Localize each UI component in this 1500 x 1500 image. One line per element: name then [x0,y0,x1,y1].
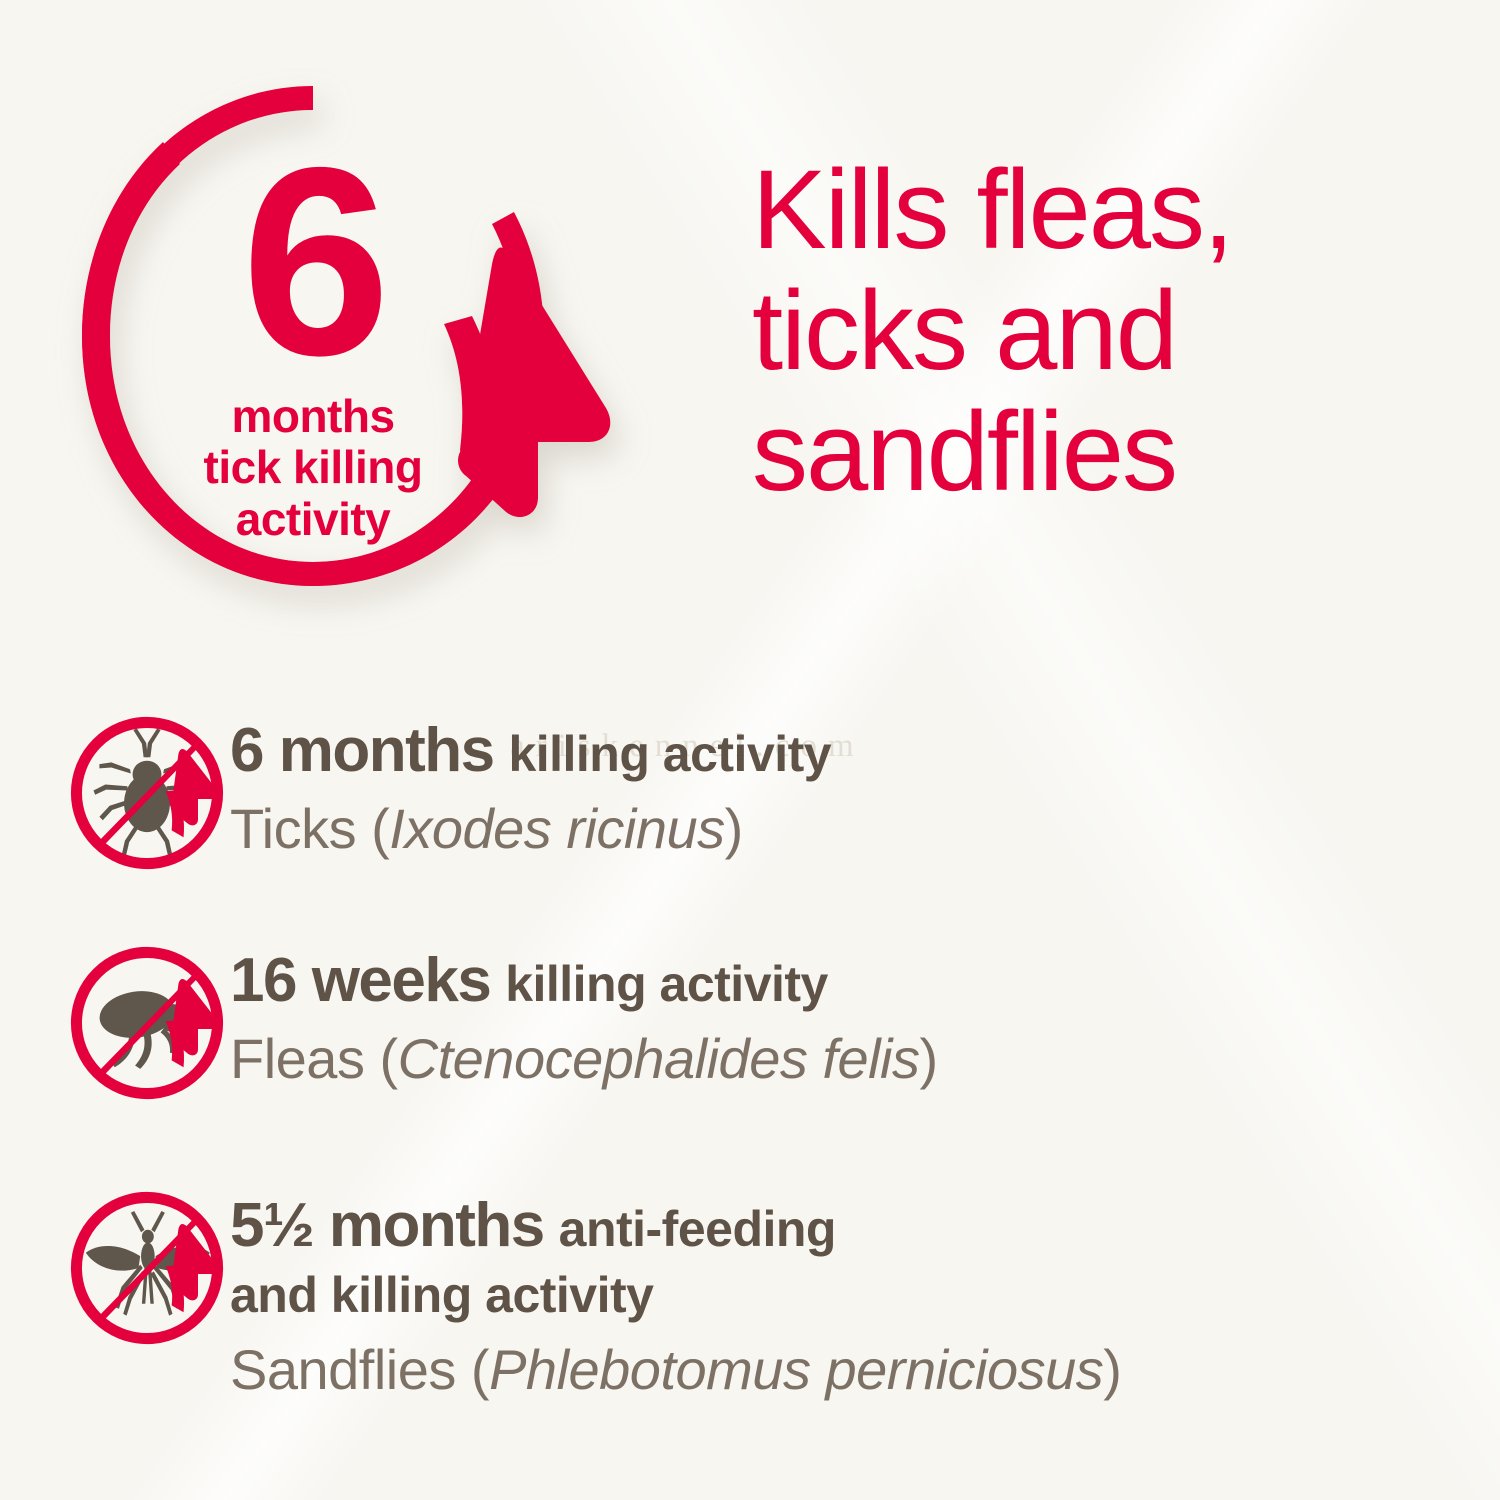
claim-duration: 5½ months [230,1191,544,1260]
claim-continuation: and killing activity [230,1262,1121,1328]
claim-text: 16 weeks killing activity Fleas (Ctenoce… [230,920,938,1096]
six-month-badge: 6 months tick killing activity [68,78,668,618]
headline-line-3: sandflies [752,392,1452,513]
species-prefix: Ticks ( [230,797,389,860]
claims-list: 6 months killing activity Ticks (Ixodes … [0,690,1500,1415]
claim-duration: 16 weeks [230,946,490,1015]
claim-activity: killing activity [508,726,831,782]
species-suffix: ) [1103,1338,1121,1401]
headline-line-2: ticks and [752,271,1452,392]
claim-duration: 6 months [230,716,494,785]
no-flea-icon [0,920,230,1108]
list-item: 6 months killing activity Ticks (Ixodes … [0,690,1500,920]
no-tick-icon [0,690,230,878]
list-item: 16 weeks killing activity Fleas (Ctenoce… [0,920,1500,1165]
page-title: Kills fleas, ticks and sandflies [752,150,1452,513]
headline-line-1: Kills fleas, [752,150,1452,271]
species-latin: Ctenocephalides felis [398,1027,920,1090]
species-latin: Phlebotomus perniciosus [489,1338,1103,1401]
no-sandfly-icon [0,1165,230,1353]
claim-text: 6 months killing activity Ticks (Ixodes … [230,690,831,866]
species-prefix: Sandflies ( [230,1338,489,1401]
species-prefix: Fleas ( [230,1027,398,1090]
circular-arrow-icon [68,78,668,618]
species-latin: Ixodes ricinus [389,797,724,860]
claim-activity: killing activity [505,956,828,1012]
claim-text: 5½ months anti-feeding and killing activ… [230,1165,1121,1407]
claim-activity: anti-feeding [559,1201,836,1257]
species-suffix: ) [725,797,743,860]
list-item: 5½ months anti-feeding and killing activ… [0,1165,1500,1415]
species-suffix: ) [919,1027,937,1090]
